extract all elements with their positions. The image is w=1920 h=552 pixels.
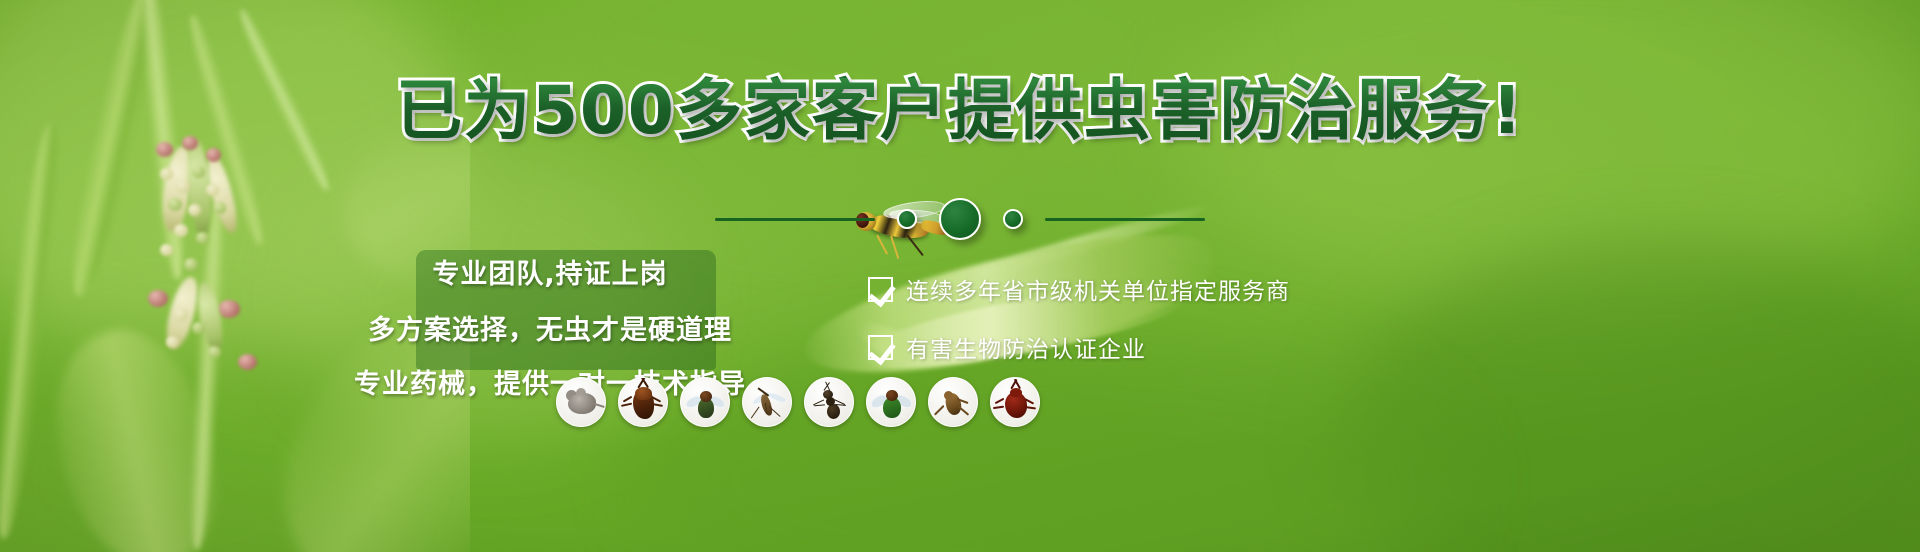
divider-line-right — [1045, 218, 1205, 221]
credentials-list: 连续多年省市级机关单位指定服务商 有害生物防治认证企业 — [868, 272, 1290, 388]
large-dot — [939, 198, 981, 240]
promo-banner: 已为500多家客户提供虫害防治服务! 已为500多家客户提供虫害防治服务! 专业… — [0, 0, 1920, 552]
feature-line-2: 多方案选择，无虫才是硬道理 — [340, 308, 760, 347]
pest-bedbug-icon[interactable] — [990, 377, 1040, 427]
pest-cockroach-icon[interactable] — [618, 377, 668, 427]
small-dot-right — [1003, 209, 1023, 229]
credential-label: 连续多年省市级机关单位指定服务商 — [906, 272, 1290, 306]
decorative-divider — [0, 196, 1920, 242]
list-item: 有害生物防治认证企业 — [868, 330, 1290, 364]
pest-icon-row — [556, 377, 1040, 427]
checkbox-checked-icon — [868, 277, 893, 302]
pest-ant-icon[interactable] — [804, 377, 854, 427]
pest-housefly-icon[interactable] — [680, 377, 730, 427]
checkbox-checked-icon — [868, 335, 893, 360]
pest-flea-icon[interactable] — [928, 377, 978, 427]
list-item: 连续多年省市级机关单位指定服务商 — [868, 272, 1290, 306]
pest-mouse-icon[interactable] — [556, 377, 606, 427]
credential-label: 有害生物防治认证企业 — [906, 330, 1146, 364]
divider-line-left — [715, 218, 875, 221]
small-dot-left — [897, 209, 917, 229]
feature-line-1: 专业团队,持证上岗 — [340, 252, 760, 291]
pest-mosquito-icon[interactable] — [742, 377, 792, 427]
page-title: 已为500多家客户提供虫害防治服务! — [0, 78, 1920, 144]
pest-blowfly-icon[interactable] — [866, 377, 916, 427]
